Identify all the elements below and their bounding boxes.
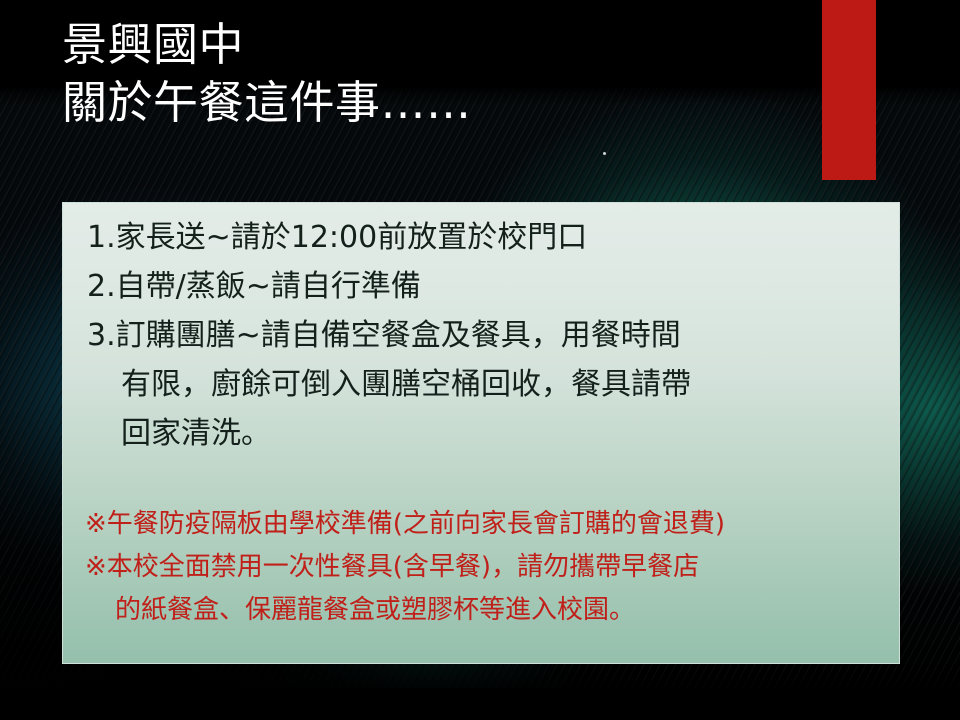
list-item-text: 家長送~請於12:00前放置於校門口 [116, 220, 588, 255]
red-accent-bar [822, 0, 876, 180]
list-item-text: 自帶/蒸飯~請自行準備 [116, 269, 421, 304]
notice-item-text: ※本校全面禁用一次性餐具(含早餐)，請勿攜帶早餐店 [85, 552, 699, 582]
notice-item: ※午餐防疫隔板由學校準備(之前向家長會訂購的會退費) [85, 503, 889, 546]
list-item-number: 2. [87, 269, 116, 304]
notice-item-text: ※午餐防疫隔板由學校準備(之前向家長會訂購的會退費) [85, 509, 725, 539]
list-item: 2.自帶/蒸飯~請自行準備 [87, 262, 887, 311]
list-item-number: 3. [87, 318, 116, 353]
notice-item-text-cont: 的紙餐盒、保麗龍餐盒或塑膠杯等進入校園。 [85, 589, 889, 632]
list-item-text-cont: 回家清洗。 [87, 409, 887, 458]
list-item-text-cont: 有限，廚餘可倒入團膳空桶回收，餐具請帶 [87, 360, 887, 409]
notice-list: ※午餐防疫隔板由學校準備(之前向家長會訂購的會退費) ※本校全面禁用一次性餐具(… [85, 503, 889, 632]
slide: 景興國中 關於午餐這件事…… 1.家長送~請於12:00前放置於校門口 2.自帶… [0, 0, 960, 720]
list-item-text: 訂購團膳~請自備空餐盒及餐具，用餐時間 [116, 318, 681, 353]
title-line-2: 關於午餐這件事…… [62, 74, 822, 132]
slide-title: 景興國中 關於午餐這件事…… [62, 16, 822, 132]
list-item: 3.訂購團膳~請自備空餐盒及餐具，用餐時間 有限，廚餘可倒入團膳空桶回收，餐具請… [87, 311, 887, 458]
numbered-list: 1.家長送~請於12:00前放置於校門口 2.自帶/蒸飯~請自行準備 3.訂購團… [87, 213, 887, 458]
list-item: 1.家長送~請於12:00前放置於校門口 [87, 213, 887, 262]
title-line-1: 景興國中 [62, 16, 822, 74]
background-speck [603, 152, 606, 155]
list-item-number: 1. [87, 220, 116, 255]
notice-item: ※本校全面禁用一次性餐具(含早餐)，請勿攜帶早餐店 的紙餐盒、保麗龍餐盒或塑膠杯… [85, 546, 889, 632]
content-panel: 1.家長送~請於12:00前放置於校門口 2.自帶/蒸飯~請自行準備 3.訂購團… [62, 202, 900, 664]
